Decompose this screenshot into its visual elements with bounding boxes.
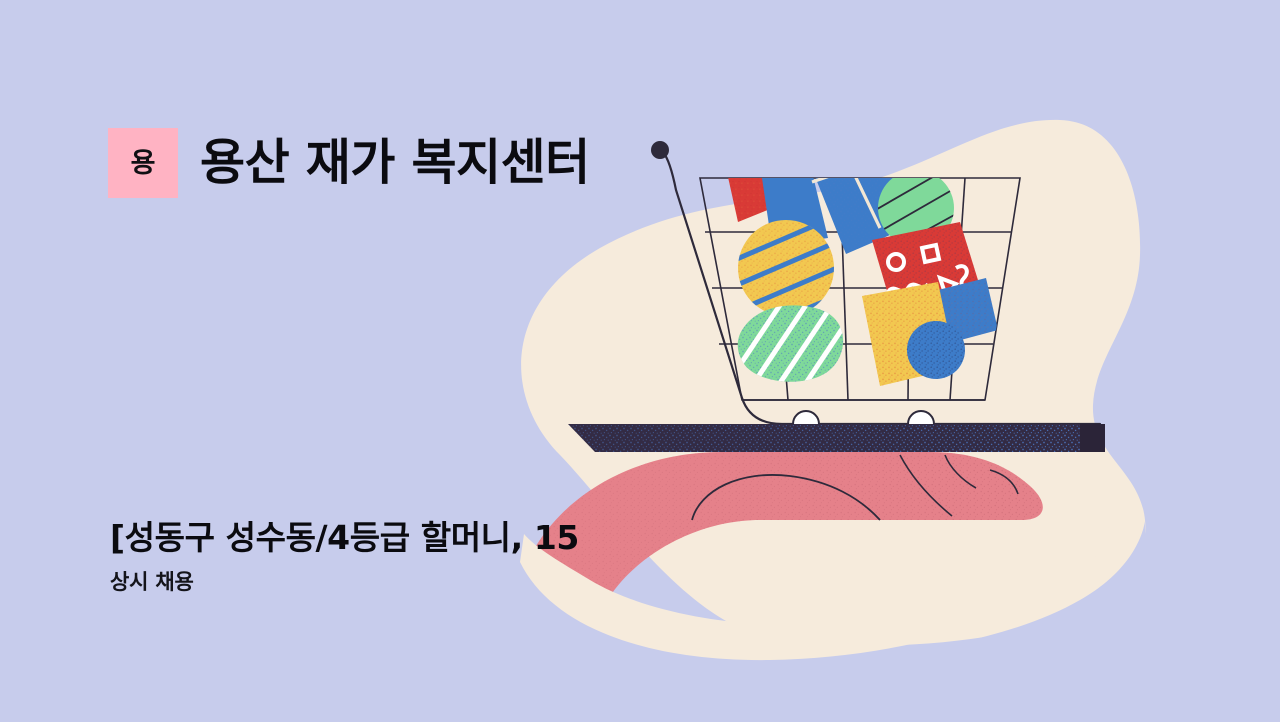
cart-wheels bbox=[793, 411, 934, 437]
company-initial-badge: 용 bbox=[108, 128, 178, 198]
gift-red-tag bbox=[726, 146, 780, 222]
gift-green-blob bbox=[730, 290, 856, 398]
employment-type-label: 상시 채용 bbox=[110, 570, 579, 595]
cart-basket-grid bbox=[700, 178, 1020, 400]
dark-speckled-bar bbox=[568, 424, 1105, 452]
hand-and-arm bbox=[520, 452, 1043, 596]
organization-name: 용산 재가 복지센터 bbox=[200, 137, 590, 188]
cream-blob bbox=[521, 120, 1145, 646]
job-posting-card: 용 용산 재가 복지센터 [성동구 성수동/4등급 할머니, 15 상시 채용 bbox=[0, 0, 1280, 722]
cart-handle-knob bbox=[651, 141, 669, 159]
cart-contents bbox=[726, 100, 998, 398]
gift-green-striped-ball bbox=[872, 166, 956, 258]
gift-blue-wedge bbox=[762, 172, 828, 246]
cream-blob-bottom-fill bbox=[520, 512, 1120, 660]
organization-header: 용 용산 재가 복지센터 bbox=[108, 128, 590, 198]
gift-yellow-striped-ball bbox=[730, 212, 852, 336]
gift-orange-square bbox=[862, 282, 956, 386]
shopping-cart-with-gifts-illustration bbox=[0, 0, 1280, 722]
gift-red-pattern-box bbox=[872, 222, 986, 328]
job-title: [성동구 성수동/4등급 할머니, 15 bbox=[110, 518, 579, 558]
company-initial-glyph: 용 bbox=[131, 150, 156, 177]
gift-blue-slice bbox=[898, 278, 998, 352]
background-fill bbox=[0, 0, 1280, 722]
cart-handle-curve bbox=[663, 152, 1100, 424]
gift-blue-dotted-ball bbox=[907, 321, 965, 379]
gift-blue-box bbox=[806, 100, 920, 254]
job-summary: [성동구 성수동/4등급 할머니, 15 상시 채용 bbox=[110, 518, 579, 595]
